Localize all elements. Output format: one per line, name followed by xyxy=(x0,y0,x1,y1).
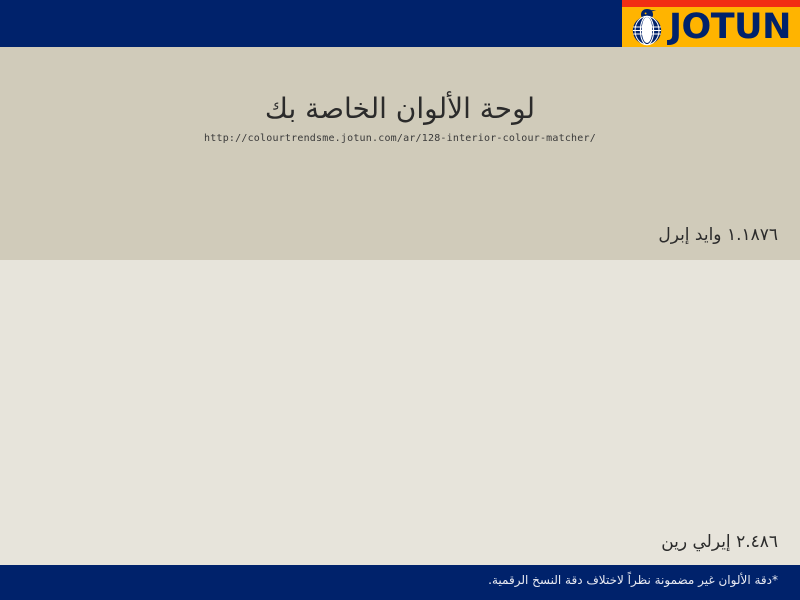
colour-label-2: ٢.٤٨٦ إيرلي رين xyxy=(661,532,778,552)
palette-url[interactable]: http://colourtrendsme.jotun.com/ar/128-i… xyxy=(0,133,800,144)
jotun-wordmark: JOTUN xyxy=(669,10,791,45)
colour-label-1: ١.١٨٧٦ وايد إبرل xyxy=(658,225,778,245)
logo-red-stripe xyxy=(622,0,800,7)
page-title: لوحة الألوان الخاصة بك xyxy=(0,92,800,126)
colour-swatch-band-2 xyxy=(0,260,800,565)
page-header: JOTUN xyxy=(0,0,800,47)
jotun-logo[interactable]: JOTUN xyxy=(622,0,800,47)
logo-content: JOTUN xyxy=(622,7,800,47)
jotun-globe-icon xyxy=(626,8,668,46)
title-block: لوحة الألوان الخاصة بك http://colourtren… xyxy=(0,92,800,144)
colour-accuracy-disclaimer: *دقة الألوان غير مضمونة نظراً لاختلاف دق… xyxy=(488,573,778,587)
page-footer: *دقة الألوان غير مضمونة نظراً لاختلاف دق… xyxy=(0,565,800,600)
colour-palette-page: JOTUN لوحة الألوان الخاصة بك http://colo… xyxy=(0,0,800,600)
